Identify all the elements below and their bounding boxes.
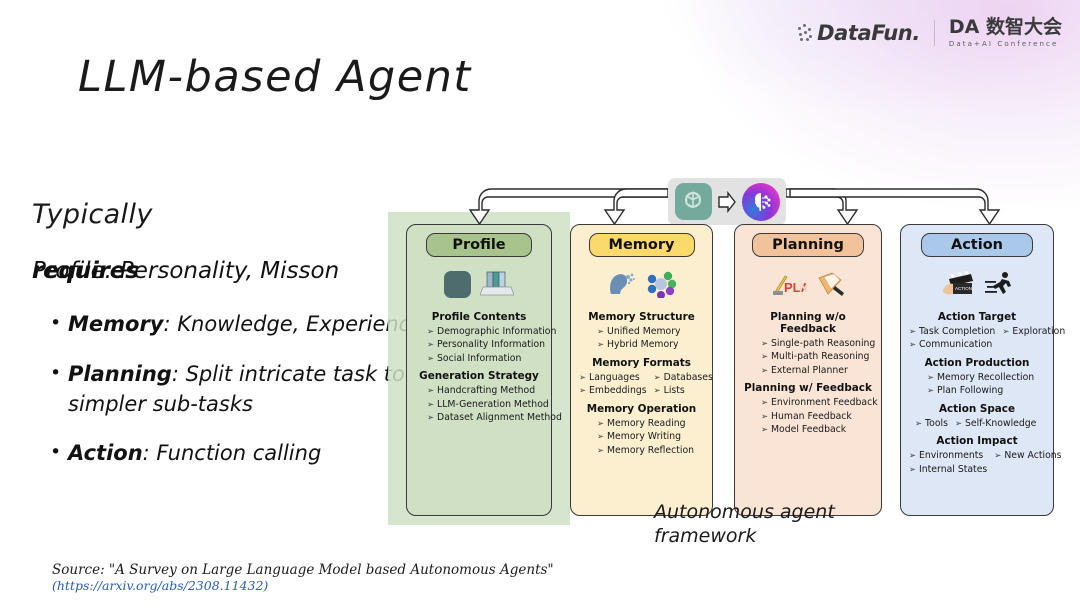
list-item: ➢Embeddings [579,384,647,397]
chevron-right-icon: ➢ [927,384,934,397]
list-item: ➢Internal States [909,463,987,476]
panel-profile[interactable]: Profile Profile Contents ➢Demographic In… [406,224,552,516]
autonomous-agent-figure: Profile Profile Contents ➢Demographic In… [386,172,1066,532]
list-item: ➢Tools [915,417,948,430]
brand-bar: DataFun. DA 数智大会 Data+AI Conference [798,18,1062,48]
list-item: ➢LLM-Generation Method [427,398,545,411]
bullet-rest: : Function calling [143,441,322,465]
chevron-right-icon: ➢ [909,463,916,476]
list-item: ➢Dataset Alignment Method [427,411,545,424]
section-two-column: ➢Task Completion ➢Communication ➢Explora… [907,325,1047,352]
list-item: ➢Unified Memory [597,325,706,338]
panel-memory[interactable]: Memory Memory Structure ➢Unifi [570,224,713,516]
section-heading: Memory Formats [577,357,706,369]
profile-bullet-text: Profile: Personality, Misson [32,258,339,284]
panel-title-memory: Memory [589,233,695,257]
list-item: ➢Task Completion [909,325,995,338]
list-item: ➢Memory Reflection [597,444,706,457]
list-item: ➢Memory Recollection [927,371,1047,384]
chevron-right-icon: ➢ [597,417,604,430]
list-item: ➢Languages [579,371,647,384]
list-item: ➢Memory Reading [597,417,706,430]
chevron-right-icon: ➢ [915,417,922,430]
panel-planning[interactable]: Planning PLA N Planning w/o Feedback ➢Si… [734,224,882,516]
figure-caption-line2: framework [654,524,835,548]
section-heading: Generation Strategy [413,370,545,382]
section-heading: Memory Structure [577,311,706,323]
svg-text:ACTION: ACTION [955,286,972,291]
chevron-right-icon: ➢ [597,444,604,457]
section-heading: Action Target [907,311,1047,323]
chevron-right-icon: ➢ [597,325,604,338]
list-item: ➢Memory Writing [597,430,706,443]
list-item: ➢Demographic Information [427,325,545,338]
list-item: ➢Handcrafting Method [427,384,545,397]
chevron-right-icon: ➢ [597,430,604,443]
section-list: ➢Demographic Information ➢Personality In… [413,325,545,365]
chevron-right-icon: ➢ [427,352,434,365]
list-item: ➢Personality Information [427,338,545,351]
overlapping-text-row: requires Profile: Personality, Misson [32,258,432,292]
list-item: ➢Multi-path Reasoning [761,350,875,363]
section-heading: Profile Contents [413,311,545,323]
chevron-right-icon: ➢ [427,411,434,424]
list-item: ➢Databases [654,371,713,384]
svg-text:N: N [799,280,807,295]
list-item: ➢Environments [909,449,987,462]
chevron-right-icon: ➢ [909,338,916,351]
chevron-right-icon: ➢ [761,350,768,363]
section-list: ➢Single-path Reasoning ➢Multi-path Reaso… [741,337,875,377]
chevron-right-icon: ➢ [761,410,768,423]
bullet-label: Planning [68,362,172,386]
list-item: ➢New Actions [994,449,1061,462]
chevron-right-icon: ➢ [761,396,768,409]
chevron-right-icon: ➢ [427,384,434,397]
chevron-right-icon: ➢ [909,449,916,462]
chevron-right-icon: ➢ [654,384,661,397]
chevron-right-icon: ➢ [761,423,768,436]
source-citation: Source: "A Survey on Large Language Mode… [52,562,554,595]
llm-core-icon-group [668,178,786,225]
chevron-right-icon: ➢ [927,371,934,384]
datafun-logo: DataFun. [798,21,920,45]
ai-brain-icon [742,183,780,221]
plan-blocks-icon: PLA N [771,270,807,298]
list-item: ➢Self-Knowledge [955,417,1036,430]
clapperboard-icon: ACTION [941,270,975,298]
chevron-right-icon: ➢ [654,371,661,384]
section-list: ➢Memory Reading ➢Memory Writing ➢Memory … [577,417,706,457]
section-two-column: ➢Environments ➢Internal States ➢New Acti… [907,449,1047,476]
datafun-logo-text: DataFun. [817,21,920,45]
list-item: ➢Hybrid Memory [597,338,706,351]
section-list: ➢Environment Feedback ➢Human Feedback ➢M… [741,396,875,436]
section-heading: Planning w/o Feedback [741,311,875,335]
bullet-dot-icon: • [50,439,68,469]
chevron-right-icon: ➢ [994,449,1001,462]
chevron-right-icon: ➢ [761,364,768,377]
brand-divider [934,20,935,46]
section-heading: Action Impact [907,435,1047,447]
running-person-icon [984,270,1014,298]
figure-caption: Autonomous agent framework [654,500,835,549]
source-url[interactable]: (https://arxiv.org/abs/2308.11432) [52,578,554,594]
list-item: ➢Communication [909,338,995,351]
list-item: ➢Environment Feedback [761,396,875,409]
section-list: ➢Unified Memory ➢Hybrid Memory [577,325,706,352]
section-heading: Planning w/ Feedback [741,382,875,394]
figure-caption-line1: Autonomous agent [654,500,835,524]
list-item: ➢Plan Following [927,384,1047,397]
panel-title-planning: Planning [752,233,864,257]
lead-text-line1: Typically [32,196,262,234]
section-heading: Action Space [907,403,1047,415]
section-heading: Action Production [907,357,1047,369]
section-heading: Memory Operation [577,403,706,415]
section-two-column: ➢Languages ➢Embeddings ➢Databases ➢Lists [577,371,706,398]
openai-logo-icon [675,183,712,220]
chevron-right-icon: ➢ [955,417,962,430]
notes-pencil-icon [816,270,846,298]
chevron-right-icon: ➢ [1002,325,1009,338]
chevron-right-icon: ➢ [427,325,434,338]
memory-types-bubbles-icon [646,270,676,298]
source-line: Source: "A Survey on Large Language Mode… [52,562,554,579]
section-two-column: ➢Tools ➢Self-Knowledge [907,417,1047,430]
panel-title-action: Action [921,233,1033,257]
datafun-dots-icon [798,24,814,42]
bullet-dot-icon: • [50,360,68,420]
list-item: ➢Human Feedback [761,410,875,423]
conference-name-en: Data+AI Conference [949,40,1058,48]
chevron-right-icon: ➢ [579,371,586,384]
list-item: ➢Single-path Reasoning [761,337,875,350]
file-folders-icon [480,270,514,298]
right-arrow-icon [717,191,737,213]
bullet-label: Action [68,441,143,465]
conference-name-cn: DA 数智大会 [949,18,1062,38]
bullet-label: Memory [68,312,164,336]
list-item: ➢Exploration [1002,325,1065,338]
panel-title-profile: Profile [426,233,532,257]
slide-canvas: DataFun. DA 数智大会 Data+AI Conference LLM-… [0,0,1080,608]
chevron-right-icon: ➢ [597,338,604,351]
section-list: ➢Memory Recollection ➢Plan Following [907,371,1047,398]
panel-action[interactable]: Action ACTION Action Target [900,224,1054,516]
page-title: LLM-based Agent [78,52,472,102]
chevron-right-icon: ➢ [427,338,434,351]
chevron-right-icon: ➢ [427,398,434,411]
section-list: ➢Handcrafting Method ➢LLM-Generation Met… [413,384,545,424]
head-memory-icon [607,270,637,298]
conference-logo: DA 数智大会 Data+AI Conference [949,18,1062,48]
list-item: ➢External Planner [761,364,875,377]
chevron-right-icon: ➢ [761,337,768,350]
list-item: ➢Lists [654,384,713,397]
profile-avatar-icon [444,271,471,298]
bullet-dot-icon: • [50,310,68,340]
list-item: ➢Model Feedback [761,423,875,436]
list-item: ➢Social Information [427,352,545,365]
chevron-right-icon: ➢ [909,325,916,338]
bullet-rest: : Knowledge, Experience [164,312,424,336]
chevron-right-icon: ➢ [579,384,586,397]
